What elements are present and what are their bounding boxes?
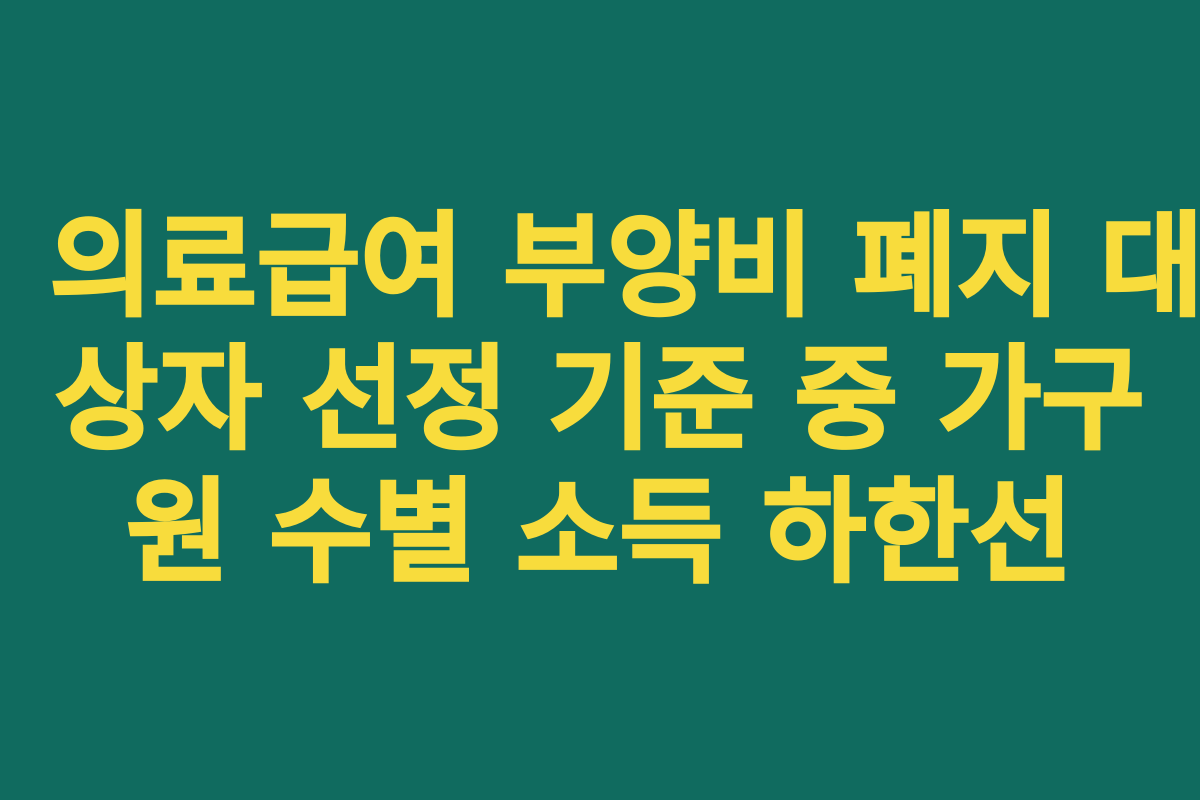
headline-line-3: 원 수별 소득 하한선 [50, 467, 1150, 600]
text-banner: 의료급여 부양비 폐지 대 상자 선정 기준 중 가구 원 수별 소득 하한선 [0, 0, 1200, 800]
headline-text: 의료급여 부양비 폐지 대 상자 선정 기준 중 가구 원 수별 소득 하한선 [50, 201, 1150, 600]
headline-line-1: 의료급여 부양비 폐지 대 [50, 201, 1150, 334]
headline-line-2: 상자 선정 기준 중 가구 [50, 334, 1150, 467]
